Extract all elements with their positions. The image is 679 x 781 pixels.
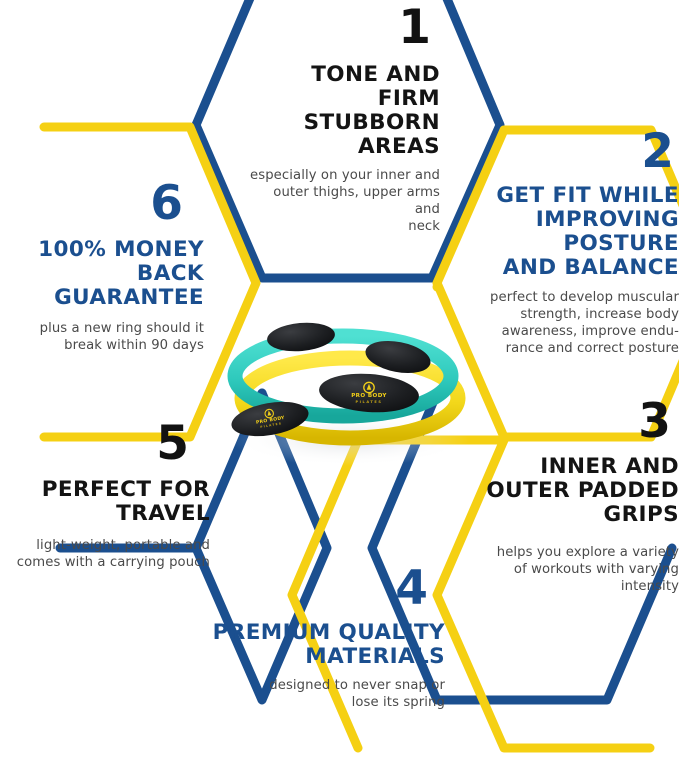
feature-number-5: 5	[0, 420, 188, 467]
feature-desc-6: plus a new ring should it break within 9…	[0, 321, 204, 355]
svg-text:PRO BODY: PRO BODY	[351, 393, 387, 399]
product-image: PRO BODY PILATES PRO BODY PILATES	[215, 300, 480, 475]
feature-title-3: INNER AND OUTER PADDED GRIPS	[460, 455, 679, 527]
feature-title-6: 100% MONEY BACK GUARANTEE	[0, 238, 204, 310]
feature-block-3: 3 INNER AND OUTER PADDED GRIPS helps you…	[460, 398, 679, 596]
feature-block-4: 4 PREMIUM QUALITY MATERIALS designed to …	[185, 565, 445, 712]
infographic-canvas: PRO BODY PILATES PRO BODY PILATES 1 TONE…	[0, 0, 679, 781]
feature-desc-3: helps you explore a variety of workouts …	[460, 545, 679, 596]
feature-desc-2: perfect to develop muscular strength, in…	[455, 290, 679, 358]
feature-number-1: 1	[250, 4, 430, 51]
feature-block-1: 1 TONE AND FIRM STUBBORN AREAS especiall…	[250, 4, 440, 236]
feature-title-2: GET FIT WHILE IMPROVING POSTURE AND BALA…	[455, 184, 679, 280]
feature-number-3: 3	[460, 398, 670, 445]
feature-desc-4: designed to never snap or lose its sprin…	[185, 678, 445, 712]
svg-text:PILATES: PILATES	[355, 400, 382, 404]
feature-number-4: 4	[185, 565, 427, 612]
feature-desc-1: especially on your inner and outer thigh…	[250, 168, 440, 236]
feature-number-6: 6	[0, 180, 182, 227]
feature-block-2: 2 GET FIT WHILE IMPROVING POSTURE AND BA…	[455, 128, 679, 358]
feature-number-2: 2	[455, 128, 673, 175]
feature-block-6: 6 100% MONEY BACK GUARANTEE plus a new r…	[0, 180, 204, 355]
feature-desc-5: light-weight, portable and comes with a …	[0, 538, 210, 572]
feature-title-5: PERFECT FOR TRAVEL	[0, 478, 210, 526]
feature-block-5: 5 PERFECT FOR TRAVEL light-weight, porta…	[0, 420, 210, 572]
feature-title-1: TONE AND FIRM STUBBORN AREAS	[250, 63, 440, 159]
feature-title-4: PREMIUM QUALITY MATERIALS	[185, 621, 445, 669]
